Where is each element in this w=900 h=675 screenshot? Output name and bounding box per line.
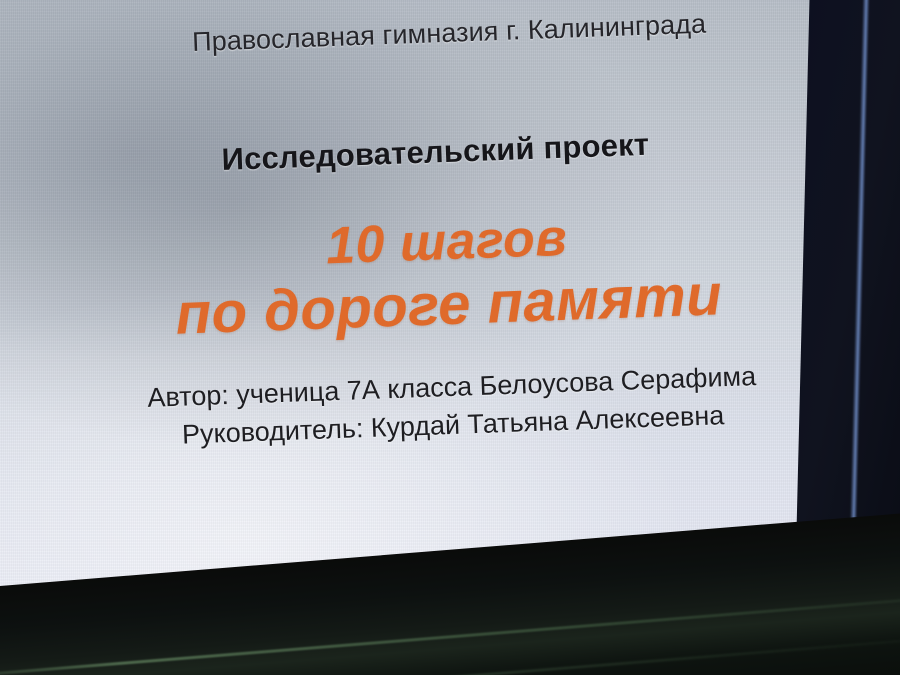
slide-title: 10 шагов по дороге памяти bbox=[0, 198, 900, 353]
credits-block: Автор: ученица 7А класса Белоусова Сераф… bbox=[1, 352, 900, 461]
organization-line: Православная гимназия г. Калининграда bbox=[0, 2, 899, 65]
projected-slide-photo: Православная гимназия г. Калининграда Ис… bbox=[0, 0, 900, 675]
project-kind-heading: Исследовательский проект bbox=[0, 118, 886, 186]
